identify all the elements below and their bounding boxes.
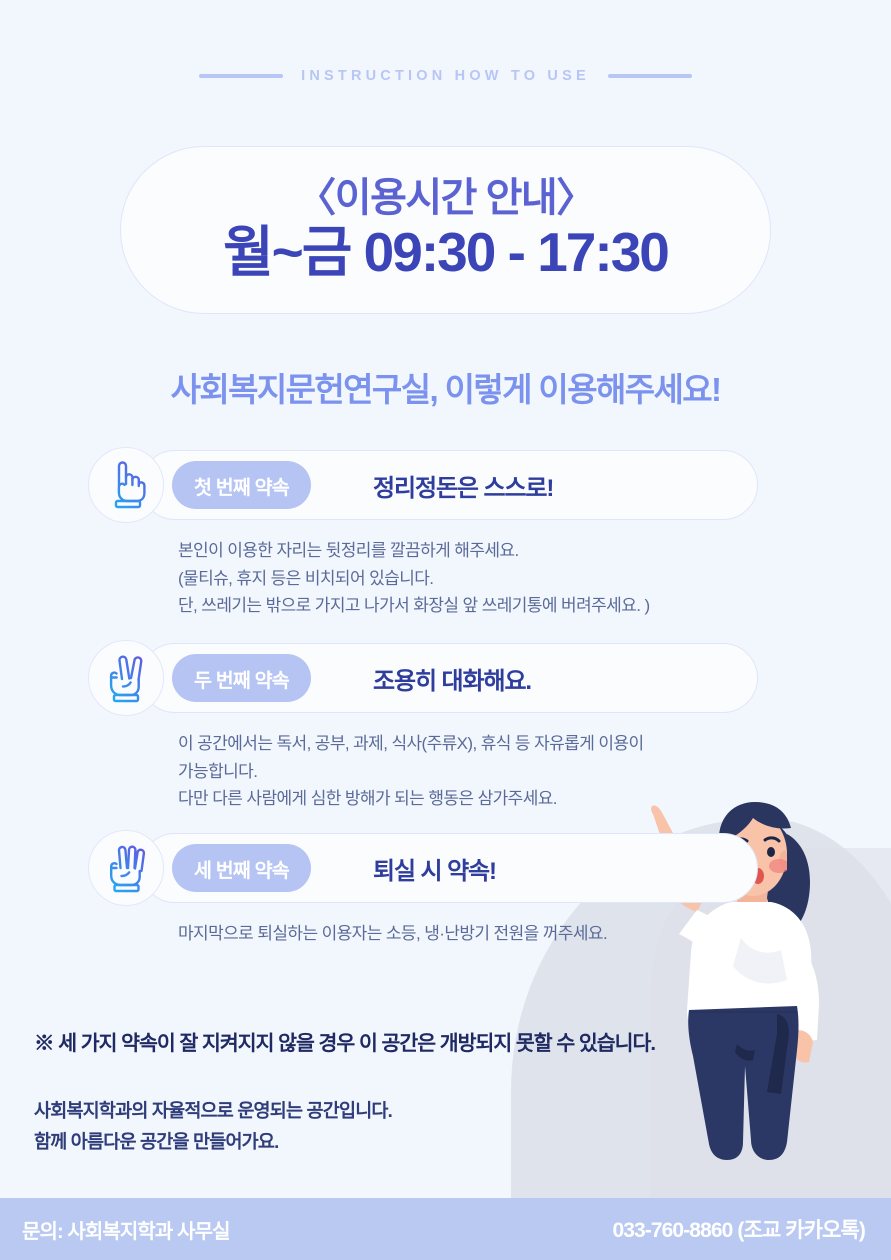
- closing-message: 사회복지학과의 자율적으로 운영되는 공간입니다. 함께 아름다운 공간을 만들…: [34, 1095, 392, 1157]
- promise-block-2: 두 번째 약속 조용히 대화해요. 이 공간에서는 독서, 공부, 과제, 식사…: [88, 640, 778, 813]
- promise-row-2: 두 번째 약속 조용히 대화해요.: [88, 640, 778, 716]
- eyebrow-label: INSTRUCTION HOW TO USE: [301, 68, 590, 84]
- hours-value: 월~금 09:30 - 17:30: [223, 222, 668, 284]
- page-subtitle: 사회복지문헌연구실, 이렇게 이용해주세요!: [0, 363, 891, 411]
- hours-heading: 〈이용시간 안내〉: [296, 177, 594, 220]
- hand-two-fingers-icon: [88, 640, 164, 716]
- promise-body-1: 본인이 이용한 자리는 뒷정리를 깔끔하게 해주세요. (물티슈, 휴지 등은 …: [178, 537, 778, 620]
- promise-title-3: 퇴실 시 약속!: [373, 844, 496, 892]
- promise-title-1: 정리정돈은 스스로!: [373, 461, 553, 509]
- promise-body-text-1: 본인이 이용한 자리는 뒷정리를 깔끔하게 해주세요. (물티슈, 휴지 등은 …: [178, 537, 778, 620]
- eyebrow-rule-left: [199, 74, 283, 78]
- footer-contact-phone: 033-760-8860 (조교 카카오톡): [612, 1214, 865, 1244]
- promise-block-1: 첫 번째 약속 정리정돈은 스스로! 본인이 이용한 자리는 뒷정리를 깔끔하게…: [88, 447, 778, 620]
- promise-title-2: 조용히 대화해요.: [373, 654, 531, 702]
- contact-footer: 문의: 사회복지학과 사무실 033-760-8860 (조교 카카오톡): [0, 1198, 891, 1260]
- promise-badge-1: 첫 번째 약속: [172, 461, 311, 509]
- poster-root: INSTRUCTION HOW TO USE 〈이용시간 안내〉 월~금 09:…: [0, 0, 891, 1260]
- promise-badge-3: 세 번째 약속: [172, 844, 311, 892]
- eyebrow-header: INSTRUCTION HOW TO USE: [0, 68, 891, 84]
- promise-row-1: 첫 번째 약속 정리정돈은 스스로!: [88, 447, 778, 523]
- promise-row-3: 세 번째 약속 퇴실 시 약속!: [88, 830, 778, 906]
- eyebrow-rule-right: [608, 74, 692, 78]
- hand-three-fingers-icon: [88, 830, 164, 906]
- notice-warning: ※ 세 가지 약속이 잘 지켜지지 않을 경우 이 공간은 개방되지 못할 수 …: [34, 1026, 655, 1056]
- hours-hero-box: 〈이용시간 안내〉 월~금 09:30 - 17:30: [120, 146, 771, 314]
- footer-contact-office: 문의: 사회복지학과 사무실: [22, 1215, 230, 1244]
- hand-one-finger-icon: [88, 447, 164, 523]
- promise-badge-2: 두 번째 약속: [172, 654, 311, 702]
